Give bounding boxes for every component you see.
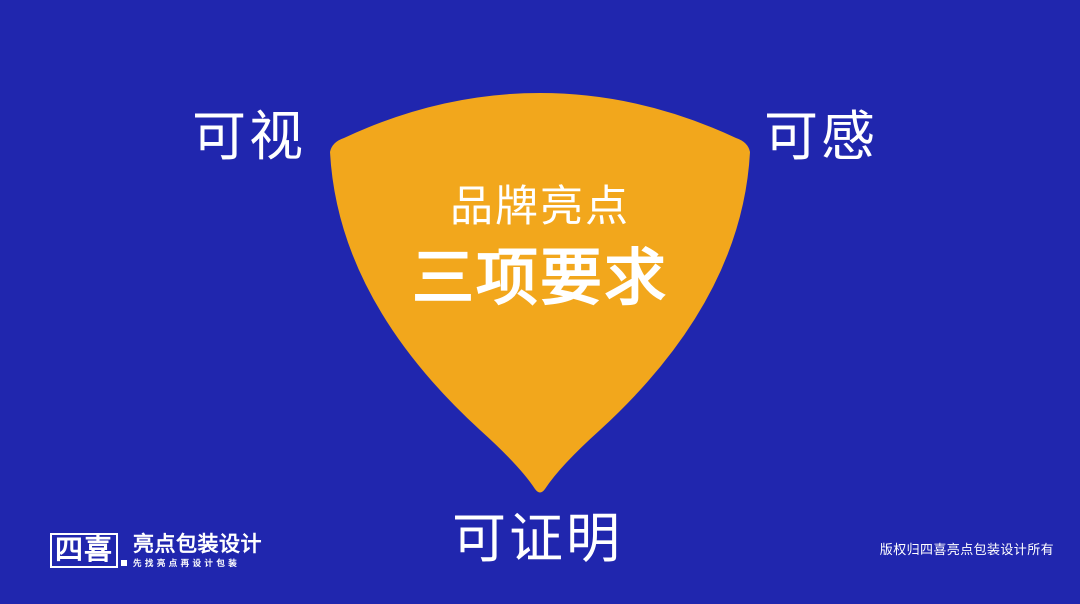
logo-mark-characters: 四喜	[50, 533, 118, 568]
logo-company-name: 亮点包装设计	[133, 534, 262, 556]
shield-subtitle: 品牌亮点	[0, 186, 1080, 229]
brand-logo: 四喜 亮点包装设计 先找亮点再设计包装	[50, 524, 262, 568]
slide-canvas: 品牌亮点 三项要求 可视 可感 可证明 四喜 亮点包装设计 先找亮点再设计包装 …	[0, 0, 1080, 604]
label-perceivable: 可感	[764, 110, 878, 164]
logo-mark: 四喜	[50, 533, 127, 568]
logo-tagline: 先找亮点再设计包装	[133, 558, 262, 568]
shield-main-title: 三项要求	[0, 248, 1080, 310]
copyright-notice: 版权归四喜亮点包装设计所有	[880, 539, 1054, 558]
logo-dot-icon	[121, 560, 127, 566]
label-provable: 可证明	[452, 512, 623, 566]
label-visible: 可视	[192, 110, 306, 164]
logo-text-block: 亮点包装设计 先找亮点再设计包装	[133, 534, 262, 568]
